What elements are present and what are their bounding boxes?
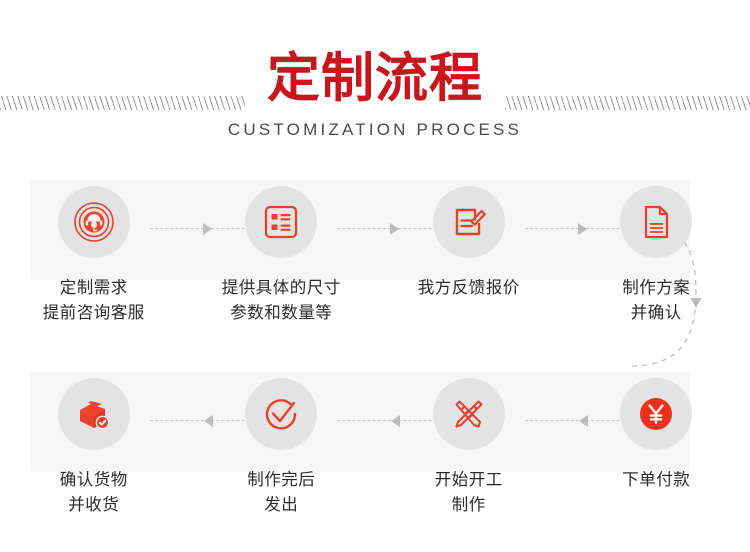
page-title: 定制流程 [0,50,750,108]
process-step-4[interactable]: 制作方案 并确认 [563,172,750,360]
arrow-right-icon [578,223,587,235]
process-step-2[interactable]: 提供具体的尺寸 参数和数量等 [188,172,376,360]
arrow-right-icon [390,223,399,235]
step-6-circle [433,378,505,450]
yuan-payment-icon [635,393,677,435]
step-3-circle [433,186,505,258]
step-5-label: 下单付款 [622,468,690,493]
process-step-6[interactable]: 开始开工 制作 [375,364,563,552]
arrow-right-icon [203,223,212,235]
step-4-circle [620,186,692,258]
step-8-circle [58,378,130,450]
page-subtitle: CUSTOMIZATION PROCESS [0,120,750,140]
package-box-check-icon [74,394,114,434]
step-3-label: 我方反馈报价 [418,276,520,301]
step-2-label: 提供具体的尺寸 参数和数量等 [222,276,341,326]
process-step-7[interactable]: 制作完后 发出 [188,364,376,552]
process-row-2: 确认货物 并收货 制作完后 发出 [0,364,750,552]
process-step-3[interactable]: 我方反馈报价 [375,172,563,360]
step-7-circle [245,378,317,450]
arrow-left-icon [391,415,400,427]
pencil-ruler-icon [449,394,489,434]
page-header: 定制流程 CUSTOMIZATION PROCESS [0,0,750,165]
customer-service-headset-icon [73,201,115,243]
arrow-left-icon [579,415,588,427]
step-4-label: 制作方案 并确认 [622,276,690,326]
form-list-icon [261,202,301,242]
process-step-5[interactable]: 下单付款 [563,364,750,552]
process-step-8[interactable]: 确认货物 并收货 [0,364,188,552]
step-6-label: 开始开工 制作 [435,468,503,518]
step-5-circle [620,378,692,450]
check-circle-icon [261,394,301,434]
process-step-1[interactable]: 定制需求 提前咨询客服 [0,172,188,360]
step-7-label: 制作完后 发出 [247,468,315,518]
arrow-left-icon [204,415,213,427]
document-edit-quote-icon [449,202,489,242]
step-1-circle [58,186,130,258]
process-row-1: 定制需求 提前咨询客服 提供具体的尺寸 参数和数量等 [0,172,750,360]
step-8-label: 确认货物 并收货 [60,468,128,518]
step-1-label: 定制需求 提前咨询客服 [43,276,145,326]
step-2-circle [245,186,317,258]
file-document-icon [637,203,675,241]
